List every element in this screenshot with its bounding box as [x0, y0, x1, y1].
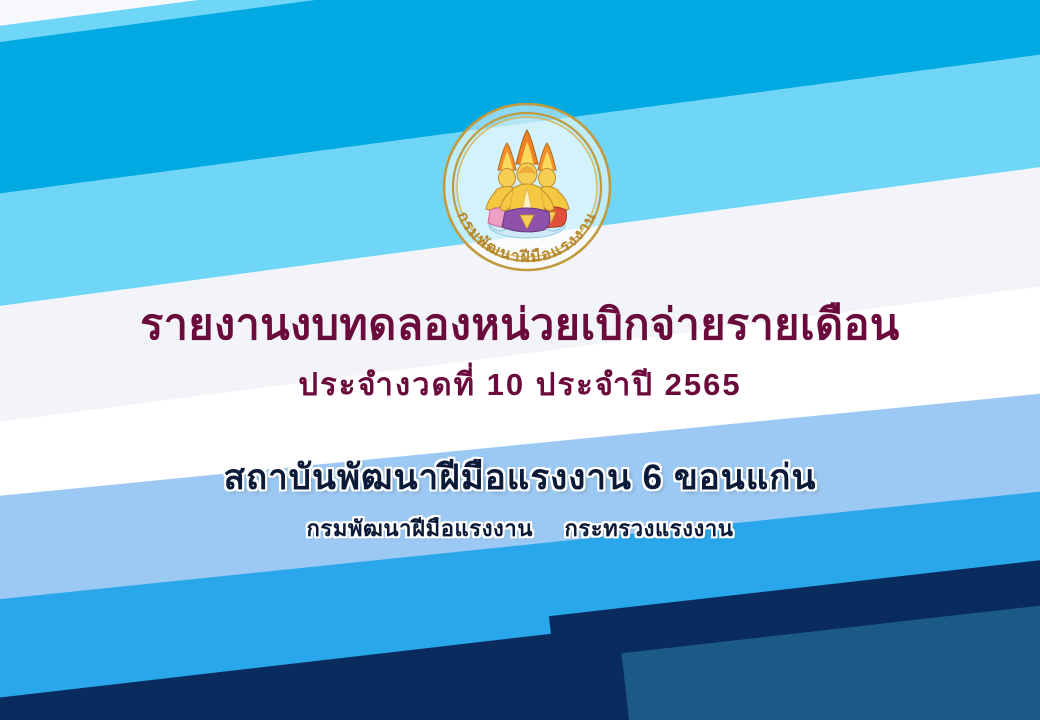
ministry-name: กระทรวงแรงงาน — [564, 516, 733, 541]
report-period: ประจำงวดที่ 10 ประจำปี 2565 — [0, 365, 1040, 405]
background-band-navy — [0, 564, 1040, 720]
parent-organization-line: กรมพัฒนาฝีมือแรงงาน กระทรวงแรงงาน — [0, 515, 1040, 543]
cover-text-block: รายงานงบทดลองหน่วยเบิกจ่ายรายเดือน ประจำ… — [0, 300, 1040, 543]
department-name: กรมพัฒนาฝีมือแรงงาน — [307, 516, 534, 541]
background-band-steel-blue — [621, 601, 1040, 720]
department-emblem-logo: กรมพัฒนาฝีมือแรงงาน — [432, 92, 622, 282]
background-band-navy-corner — [549, 553, 1040, 720]
report-title: รายงานงบทดลองหน่วยเบิกจ่ายรายเดือน — [0, 300, 1040, 351]
report-cover-slide: กรมพัฒนาฝีมือแรงงาน รายงานงบทดลองหน่วยเบ… — [0, 0, 1040, 720]
background-band-top-white — [0, 0, 1040, 42]
institute-name: สถาบันพัฒนาฝีมือแรงงาน 6 ขอนแก่น — [0, 457, 1040, 499]
